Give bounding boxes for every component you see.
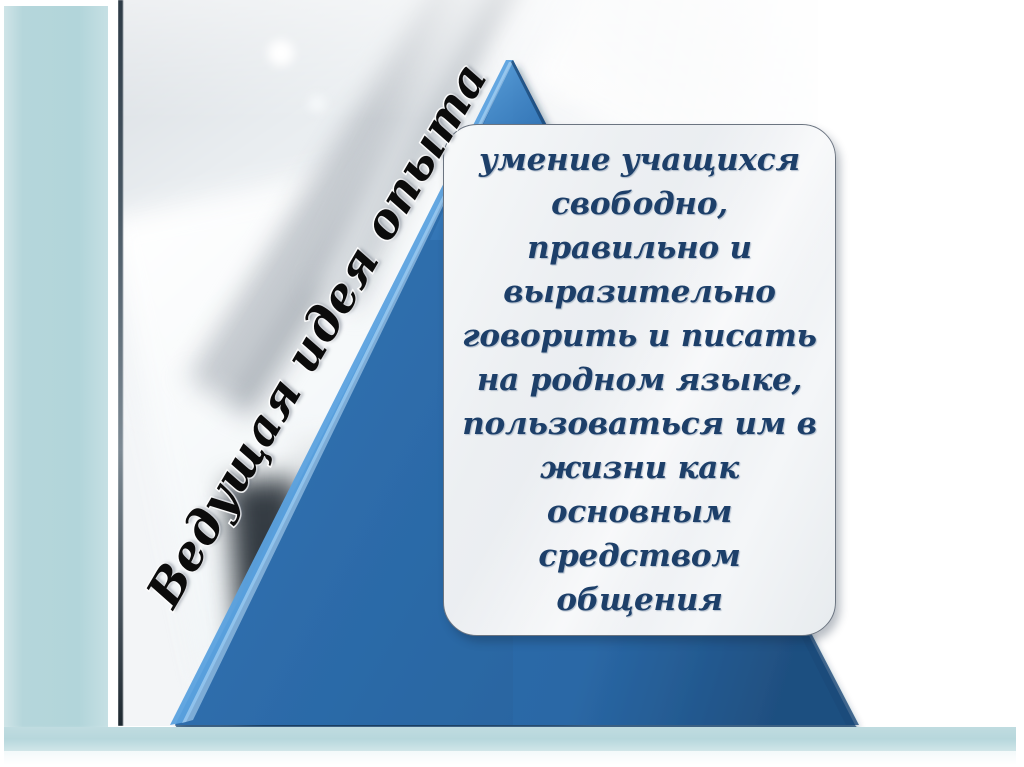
photo-left-edge-line xyxy=(118,0,123,726)
callout-text: умение учащихся свободно, правильно и вы… xyxy=(460,138,820,622)
statement-callout-box: умение учащихся свободно, правильно и вы… xyxy=(443,124,836,636)
presentation-slide: умение учащихся свободно, правильно и вы… xyxy=(0,0,1024,767)
frame-band-left xyxy=(4,6,108,751)
frame-band-bottom-fade xyxy=(4,751,1016,765)
